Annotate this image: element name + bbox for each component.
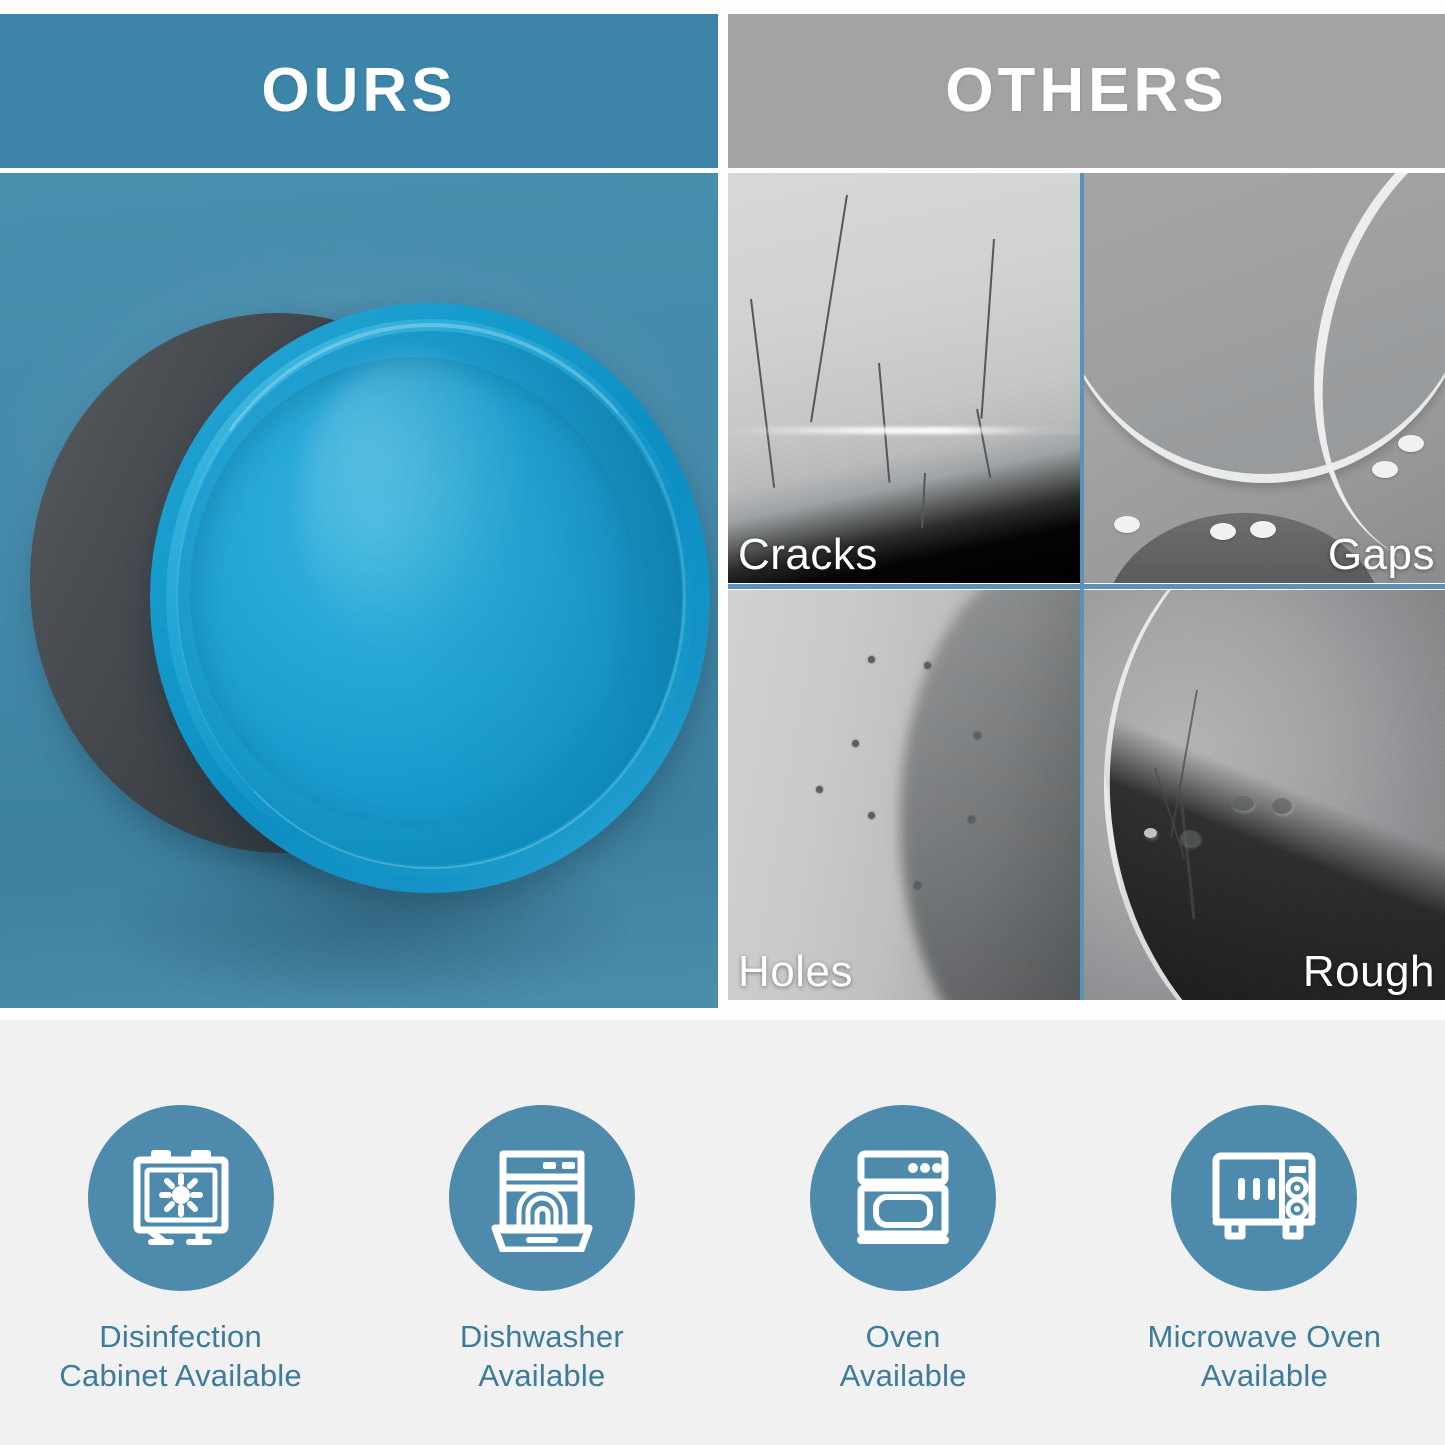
dishwasher-icon — [449, 1105, 635, 1291]
defect-cell-cracks: Cracks — [728, 173, 1080, 583]
defect-label-holes: Holes — [738, 950, 853, 994]
microwave-oven-icon — [1171, 1105, 1357, 1291]
product-floor-shadow — [120, 873, 620, 1003]
feature-label-dishwasher: Dishwasher Available — [460, 1317, 624, 1396]
ours-header-banner: OURS — [0, 14, 718, 168]
cracks-photo — [728, 173, 1080, 583]
feature-label-disinfection-cabinet: Disinfection Cabinet Available — [59, 1317, 301, 1396]
pan-specular-highlight — [300, 353, 530, 653]
comparison-infographic: OURS OTHERS Cracks — [0, 0, 1445, 1445]
grid-horizontal-divider — [728, 584, 1445, 589]
defect-cell-rough: Rough — [1084, 590, 1445, 1000]
feature-dishwasher[interactable]: Dishwasher Available — [361, 1020, 722, 1445]
holes-photo — [728, 590, 1080, 1000]
others-header-banner: OTHERS — [728, 14, 1445, 168]
gaps-photo — [1084, 173, 1445, 583]
ours-header-label: OURS — [261, 60, 456, 122]
ours-product-photo — [0, 173, 718, 1008]
defect-label-gaps: Gaps — [1328, 533, 1435, 577]
others-header-label: OTHERS — [945, 60, 1227, 122]
oven-icon — [810, 1105, 996, 1291]
feature-oven[interactable]: Oven Available — [723, 1020, 1084, 1445]
defect-cell-holes: Holes — [728, 590, 1080, 1000]
feature-disinfection-cabinet[interactable]: Disinfection Cabinet Available — [0, 1020, 361, 1445]
others-defect-grid: Cracks Gaps — [728, 173, 1445, 1000]
feature-label-microwave-oven: Microwave Oven Available — [1148, 1317, 1382, 1396]
defect-label-cracks: Cracks — [738, 533, 878, 577]
feature-icon-strip: Disinfection Cabinet Available — [0, 1020, 1445, 1445]
defect-cell-gaps: Gaps — [1084, 173, 1445, 583]
disinfection-cabinet-icon — [88, 1105, 274, 1291]
rough-photo — [1084, 590, 1445, 1000]
defect-label-rough: Rough — [1303, 950, 1435, 994]
feature-microwave-oven[interactable]: Microwave Oven Available — [1084, 1020, 1445, 1445]
feature-label-oven: Oven Available — [840, 1317, 967, 1396]
